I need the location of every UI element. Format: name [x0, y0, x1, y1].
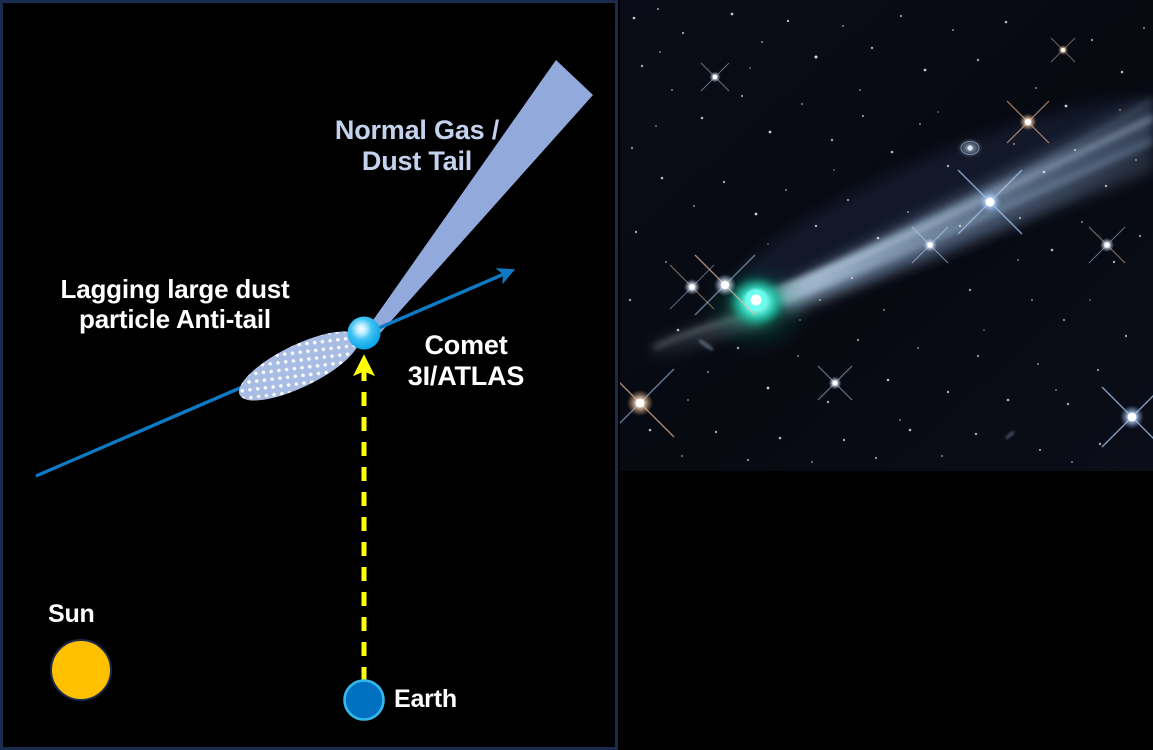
gas-dust-tail-label: Normal Gas /Dust Tail: [287, 115, 547, 177]
diagram-panel: Normal Gas /Dust Tail Lagging large dust…: [0, 0, 618, 750]
earth-disk: [345, 681, 384, 720]
comet-nucleus: [348, 317, 381, 350]
comet-photograph: [620, 0, 1153, 471]
figure-root: Normal Gas /Dust Tail Lagging large dust…: [0, 0, 1153, 750]
anti-tail-label-line2: particle Anti-tail: [79, 304, 271, 334]
sun-label: Sun: [48, 600, 95, 629]
comet-coma: [701, 262, 813, 354]
photograph-bottom-margin: [618, 471, 1153, 750]
comet-label-line2: 3I/ATLAS: [408, 361, 524, 391]
comet-label: Comet3I/ATLAS: [381, 330, 551, 392]
comet-photograph-panel: [620, 0, 1153, 471]
comet-label-line1: Comet: [424, 330, 507, 360]
gas-dust-tail-wedge: [364, 60, 593, 339]
gas-tail-label-line2: Dust Tail: [362, 146, 472, 176]
gas-tail-label-line1: Normal Gas /: [335, 115, 499, 145]
earth-label: Earth: [394, 685, 457, 714]
anti-tail-label: Lagging large dustparticle Anti-tail: [25, 275, 325, 334]
sun-disk: [51, 640, 111, 700]
spiral-galaxy: [957, 138, 983, 158]
anti-tail-label-line1: Lagging large dust: [61, 274, 290, 304]
